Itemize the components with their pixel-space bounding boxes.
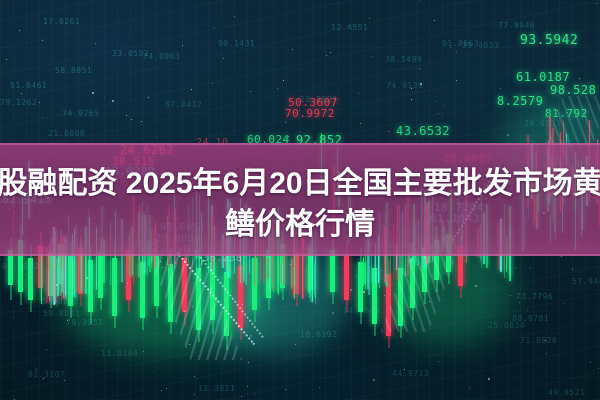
price-label: 53.0842 bbox=[42, 297, 79, 306]
price-label: 74.0963 bbox=[143, 52, 180, 61]
title-band bbox=[0, 143, 600, 256]
price-label: 17.0261 bbox=[43, 17, 80, 26]
price-label: 11.3821 bbox=[198, 384, 235, 393]
price-label: 10.0392 bbox=[300, 330, 337, 339]
price-label: 74.9265 bbox=[62, 109, 99, 118]
price-label: 73.7796 bbox=[516, 292, 553, 301]
price-label: 14.0643 bbox=[343, 306, 380, 315]
price-label: 57.9443 bbox=[572, 277, 600, 286]
price-label: 61.0187 bbox=[516, 70, 570, 84]
price-label: 74.9139 bbox=[386, 81, 423, 90]
price-label: 59.8841 bbox=[43, 309, 80, 318]
price-label: 18.3607 bbox=[300, 95, 337, 104]
price-label: 77.9946 bbox=[498, 21, 535, 30]
price-label: 70.9972 bbox=[285, 107, 335, 120]
price-label: 38.5499 bbox=[385, 55, 422, 64]
price-label: 26.0351 bbox=[524, 119, 561, 128]
band-bottom-edge bbox=[0, 254, 600, 256]
price-label: 98.528 bbox=[550, 83, 596, 97]
banner-image: 93.594261.018798.5288.257981.79250.36077… bbox=[0, 0, 600, 400]
price-label: 93.5942 bbox=[520, 33, 578, 48]
price-label: 79.3051 bbox=[66, 318, 103, 327]
price-label: 21.0088 bbox=[48, 129, 85, 138]
price-label: 12.4551 bbox=[331, 23, 368, 32]
price-label: 71.8820 bbox=[520, 336, 557, 345]
price-label: 25.0834 bbox=[488, 321, 525, 330]
price-label: 82.3107 bbox=[28, 370, 65, 379]
price-label: 87.0412 bbox=[165, 100, 202, 109]
price-label: 79.1262 bbox=[0, 98, 37, 107]
price-label: 58.8851 bbox=[55, 66, 92, 75]
price-label: 60.1062 bbox=[2, 262, 39, 271]
price-label: 51.0461 bbox=[10, 81, 47, 90]
price-label: 44.9713 bbox=[392, 369, 429, 378]
price-label: 8.2579 bbox=[497, 94, 543, 108]
price-label: 49.0521 bbox=[548, 388, 585, 397]
price-label: 90.1431 bbox=[218, 39, 255, 48]
price-label: 11.0104 bbox=[101, 349, 138, 358]
price-label: 43.6532 bbox=[396, 124, 450, 138]
band-top-edge bbox=[0, 143, 600, 145]
price-label: 39.4033 bbox=[462, 41, 499, 50]
